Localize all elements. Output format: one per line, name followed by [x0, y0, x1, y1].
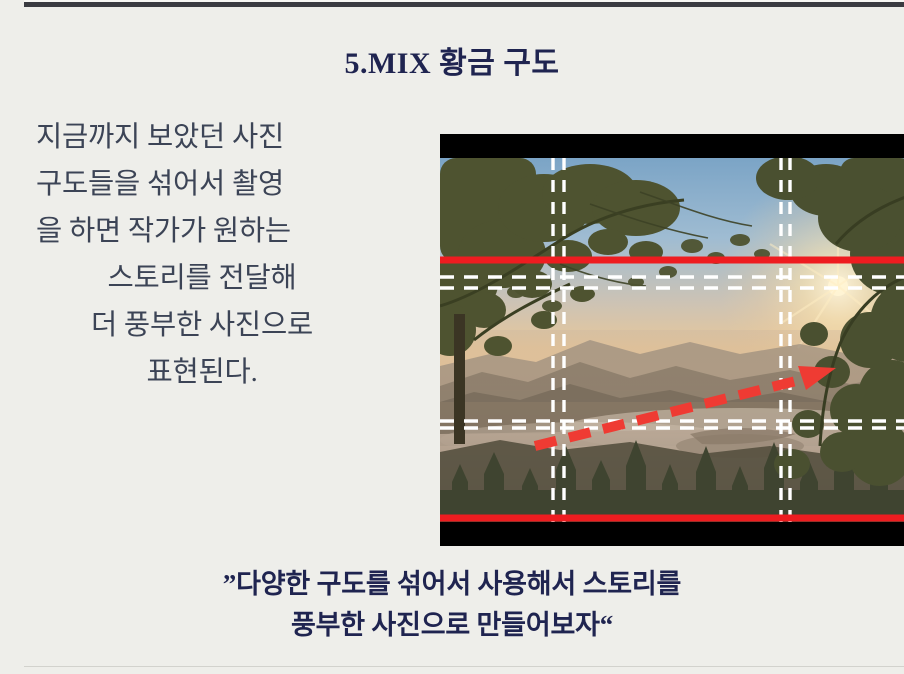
body-line-6: 표현된다.: [22, 349, 382, 396]
body-line-5: 더 풍부한 사진으로: [22, 302, 382, 349]
page-title: 5.MIX 황금 구도: [0, 38, 904, 82]
body-line-1: 지금까지 보았던 사진: [22, 114, 382, 161]
body-line-3: 을 하면 작가가 원하는: [22, 208, 382, 255]
top-dark-rule: [24, 2, 904, 7]
quote-line-1: ”다양한 구도를 섞어서 사용해서 스토리를: [0, 564, 904, 605]
bottom-divider-rule: [24, 666, 904, 667]
body-line-2: 구도들을 섞어서 촬영: [22, 161, 382, 208]
composition-example-photo: [440, 134, 904, 546]
photo-scene: [440, 156, 904, 522]
body-paragraph: 지금까지 보았던 사진 구도들을 섞어서 촬영 을 하면 작가가 원하는 스토리…: [22, 114, 382, 396]
photo-canvas: [440, 134, 904, 546]
tree-trunk-left: [454, 314, 465, 444]
body-line-4: 스토리를 전달해: [22, 255, 382, 302]
closing-quote: ”다양한 구도를 섞어서 사용해서 스토리를 풍부한 사진으로 만들어보자“: [0, 564, 904, 646]
quote-line-2: 풍부한 사진으로 만들어보자“: [0, 605, 904, 646]
